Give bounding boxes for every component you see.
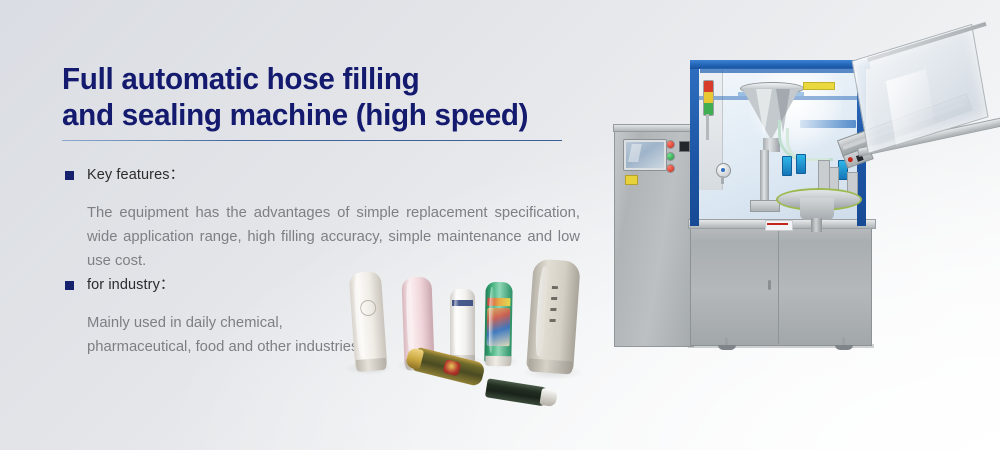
page-title-line-2: and sealing machine (high speed) [62, 97, 559, 133]
photo-sensor-icon [796, 154, 806, 174]
tube-sample-dark-green [485, 378, 549, 406]
emergency-stop-button-icon [667, 141, 674, 148]
warning-label-bar [767, 223, 788, 225]
cabinet-door [690, 225, 872, 346]
text-column: Full automatic hose filling and sealing … [62, 40, 582, 154]
tube-sample-green-sunplay [484, 282, 512, 363]
warning-label-top [803, 82, 835, 90]
tube-sample-large-beige [526, 258, 581, 371]
tube-samples-photo [340, 255, 615, 425]
leveling-foot [835, 345, 853, 350]
square-bullet-icon [65, 171, 74, 180]
title-divider [62, 140, 562, 141]
page-title-line-1: Full automatic hose filling [62, 61, 559, 97]
power-switch-icon [679, 141, 690, 152]
tube-cap [539, 388, 557, 407]
turret-shaft [811, 218, 822, 232]
product-banner: Full automatic hose filling and sealing … [0, 0, 1000, 450]
blue-frame-back-beam [700, 68, 858, 73]
filling-head-base [750, 200, 780, 212]
leveling-foot [718, 345, 736, 350]
hopper-highlight [756, 89, 772, 136]
stack-light-icon [703, 80, 714, 116]
stack-light-pole [706, 114, 709, 140]
machine-photo [600, 20, 1000, 405]
photo-sensor-icon [782, 156, 792, 176]
feature-heading: for industry： [87, 277, 175, 293]
filling-head-column [760, 150, 769, 202]
tube-cap [356, 358, 387, 372]
cabinet-door-seam [778, 226, 779, 344]
ce-label [625, 175, 638, 185]
feature-heading: Key features： [87, 167, 184, 183]
start-button-icon [667, 153, 674, 160]
page-title: Full automatic hose filling and sealing … [62, 61, 559, 133]
warning-label-cabinet [765, 220, 793, 231]
tube-sample-white-cream [349, 271, 388, 369]
feature-body: Mainly used in daily chemical, pharmaceu… [87, 311, 362, 359]
control-panel-top-edge [613, 124, 695, 132]
turret-tube-holder [800, 198, 834, 220]
pneumatic-hose-2 [786, 128, 829, 161]
tube-glare [454, 293, 459, 353]
cabinet-door-handle [768, 280, 771, 290]
blue-frame-left-post [690, 64, 699, 226]
pressure-gauge-stem [721, 176, 724, 184]
feature-heading-row: Key features： [62, 166, 582, 186]
square-bullet-icon [65, 281, 74, 290]
tube-cap [485, 356, 511, 366]
tube-sample-small-white [450, 289, 475, 362]
stop-button-icon [667, 165, 674, 172]
pressure-gauge-dial [721, 168, 725, 172]
